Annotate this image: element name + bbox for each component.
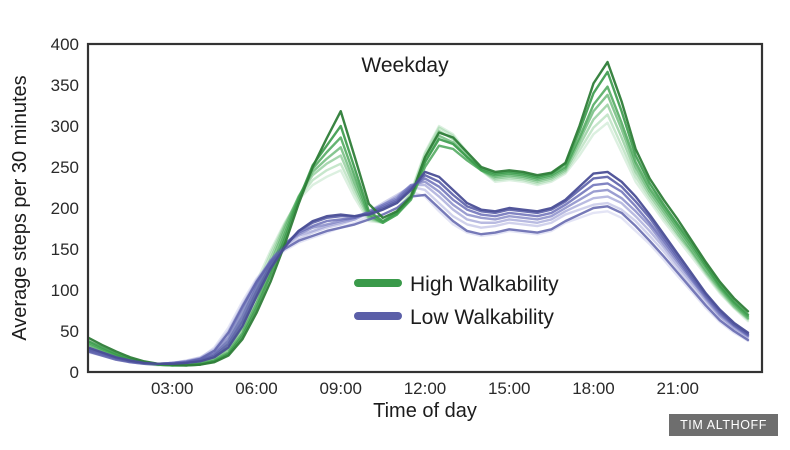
x-tick-label: 21:00 [656,379,699,398]
legend-label-low-walkability: Low Walkability [410,306,554,329]
y-axis-title: Average steps per 30 minutes [9,75,31,340]
x-axis-title: Time of day [373,400,477,422]
x-tick-label: 18:00 [572,379,615,398]
x-tick-label: 06:00 [235,379,278,398]
chart-title: Weekday [361,54,449,77]
credit-badge: TIM ALTHOFF [669,414,778,437]
y-tick-label: 400 [51,35,79,54]
line-chart: 050100150200250300350400 03:0006:0009:00… [0,0,790,450]
y-tick-label: 150 [51,240,79,259]
x-tick-label: 15:00 [488,379,531,398]
y-tick-label: 50 [60,322,79,341]
x-tick-label: 03:00 [151,379,194,398]
y-tick-label: 250 [51,158,79,177]
legend-label-high-walkability: High Walkability [410,273,559,296]
y-tick-label: 100 [51,281,79,300]
x-tick-label: 12:00 [404,379,447,398]
x-tick-label: 09:00 [319,379,362,398]
chart-figure: 050100150200250300350400 03:0006:0009:00… [0,0,790,450]
y-tick-label: 300 [51,117,79,136]
y-tick-label: 200 [51,199,79,218]
y-tick-label: 350 [51,76,79,95]
y-tick-label: 0 [70,363,79,382]
